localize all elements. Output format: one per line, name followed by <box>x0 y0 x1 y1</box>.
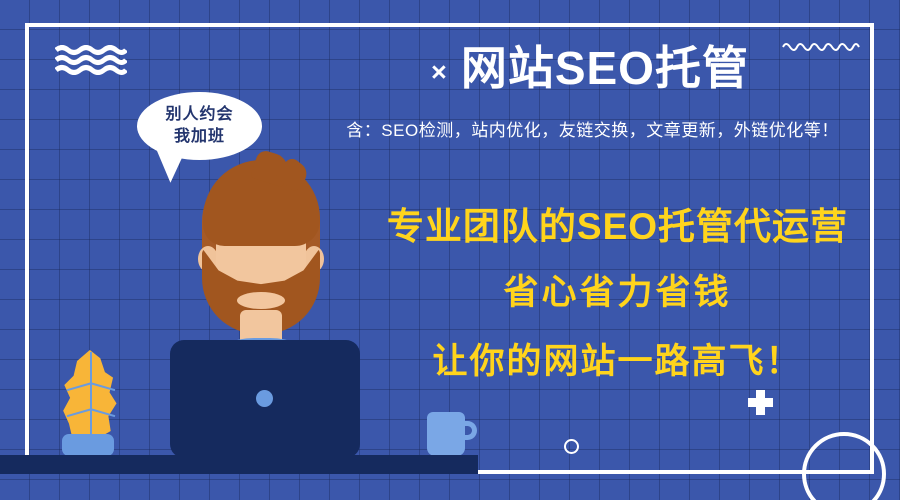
speech-bubble-line-2: 我加班 <box>174 126 225 148</box>
speech-bubble: 别人约会 我加班 <box>137 92 262 160</box>
speech-bubble-line-1: 别人约会 <box>165 104 233 126</box>
plant-vein <box>90 352 92 440</box>
triple-wave-icon <box>55 45 127 75</box>
laptop-illustration <box>170 340 360 458</box>
mouth-shape <box>237 292 285 309</box>
seo-promo-banner: × 网站SEO托管 含：SEO检测，站内优化，友链交换，文章更新，外链优化等！ … <box>0 0 900 500</box>
small-circle-decoration <box>564 439 579 454</box>
laptop-logo-dot <box>256 390 273 407</box>
page-title: 网站SEO托管 <box>461 42 749 95</box>
slogan-line-2: 省心省力省钱 <box>370 264 865 315</box>
page-subtitle: 含：SEO检测，站内优化，友链交换，文章更新，外链优化等！ <box>310 116 875 141</box>
headline-row: × 网站SEO托管 <box>310 42 870 95</box>
close-icon: × <box>431 51 447 86</box>
slogan-line-1: 专业团队的SEO托管代运营 <box>370 196 865 250</box>
plant-pot-shape <box>62 434 114 456</box>
plus-mark-decoration <box>748 390 773 415</box>
coffee-mug-illustration <box>427 412 465 456</box>
slogan-line-3: 让你的网站一路高飞！ <box>370 333 865 384</box>
desk-surface <box>0 455 478 474</box>
